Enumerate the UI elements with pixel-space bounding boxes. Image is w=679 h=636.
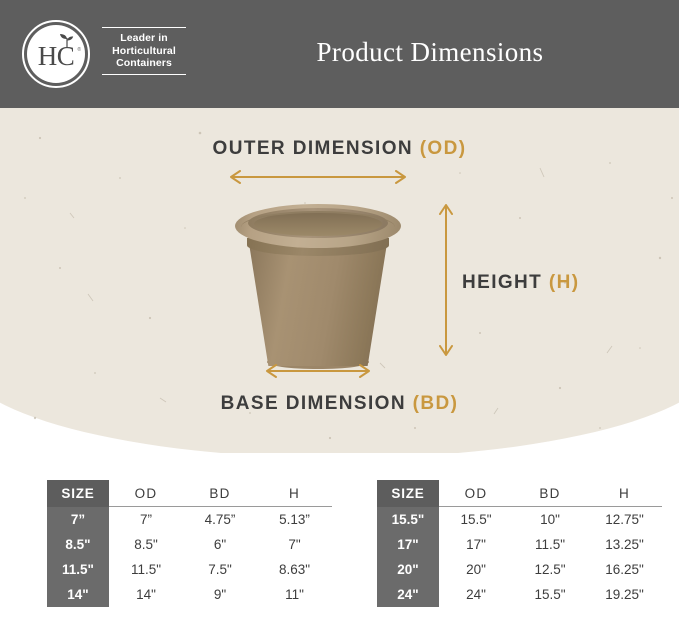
registered-trademark-mark: ® — [77, 47, 81, 53]
cell-size: 7” — [47, 507, 109, 533]
cell-bd: 15.5" — [513, 582, 587, 607]
cell-h: 7" — [257, 532, 332, 557]
cell-size: 20" — [377, 557, 439, 582]
cell-size: 24" — [377, 582, 439, 607]
column-header-bd: BD — [183, 480, 257, 507]
planter-pot-illustration — [229, 200, 407, 372]
hc-circle-logo: HC ® — [22, 20, 90, 88]
outer-dimension-code: (OD) — [420, 138, 467, 159]
table-row: 11.5" 11.5" 7.5" 8.63" — [47, 557, 332, 582]
table-row: 20" 20" 12.5" 16.25" — [377, 557, 662, 582]
cell-h: 12.75" — [587, 507, 662, 533]
diagram-panel: OUTER DIMENSION (OD) HEIGHT (H) BASE DIM… — [0, 108, 679, 453]
cell-bd: 10" — [513, 507, 587, 533]
cell-bd: 9" — [183, 582, 257, 607]
base-dimension-code: (BD) — [413, 393, 459, 414]
table-header-row: SIZE OD BD H — [377, 480, 662, 507]
cell-od: 7” — [109, 507, 183, 533]
logo-monogram: HC — [22, 20, 90, 88]
cell-bd: 6" — [183, 532, 257, 557]
table-row: 15.5" 15.5" 10" 12.75" — [377, 507, 662, 533]
outer-dimension-text: OUTER DIMENSION — [213, 138, 420, 159]
size-table-left: SIZE OD BD H 7” 7” 4.75” 5.13” 8.5" 8.5"… — [47, 480, 332, 607]
page-title: Product Dimensions — [200, 37, 660, 68]
tagline-line-2: Horticultural — [102, 45, 186, 57]
column-header-bd: BD — [513, 480, 587, 507]
column-header-od: OD — [439, 480, 513, 507]
cell-size: 8.5" — [47, 532, 109, 557]
leaf-sprout-icon — [58, 33, 76, 49]
cell-bd: 12.5" — [513, 557, 587, 582]
cell-od: 15.5" — [439, 507, 513, 533]
base-dimension-text: BASE DIMENSION — [221, 393, 413, 414]
tagline-line-1: Leader in — [102, 32, 186, 44]
cell-size: 11.5" — [47, 557, 109, 582]
column-header-size: SIZE — [47, 480, 109, 507]
cell-size: 17" — [377, 532, 439, 557]
tagline-rule-bottom — [102, 74, 186, 75]
cell-od: 17" — [439, 532, 513, 557]
cell-od: 11.5" — [109, 557, 183, 582]
cell-bd: 7.5" — [183, 557, 257, 582]
cell-h: 5.13” — [257, 507, 332, 533]
column-header-h: H — [587, 480, 662, 507]
table-row: 8.5" 8.5" 6" 7" — [47, 532, 332, 557]
height-label: HEIGHT (H) — [462, 272, 579, 294]
logo-tagline: Leader in Horticultural Containers — [102, 27, 186, 75]
pot-rim-groove — [241, 211, 395, 243]
height-arrow — [439, 200, 453, 360]
size-table-right: SIZE OD BD H 15.5" 15.5" 10" 12.75" 17" … — [377, 480, 662, 607]
height-text: HEIGHT — [462, 272, 549, 293]
table-row: 7” 7” 4.75” 5.13” — [47, 507, 332, 533]
cell-h: 19.25" — [587, 582, 662, 607]
cell-h: 8.63" — [257, 557, 332, 582]
cell-od: 8.5" — [109, 532, 183, 557]
cell-od: 20" — [439, 557, 513, 582]
cell-h: 11" — [257, 582, 332, 607]
outer-dimension-label: OUTER DIMENSION (OD) — [0, 138, 679, 160]
table-row: 24" 24" 15.5" 19.25" — [377, 582, 662, 607]
cell-h: 16.25" — [587, 557, 662, 582]
cell-od: 24" — [439, 582, 513, 607]
column-header-size: SIZE — [377, 480, 439, 507]
cell-h: 13.25" — [587, 532, 662, 557]
base-dimension-label: BASE DIMENSION (BD) — [0, 393, 679, 415]
cell-od: 14" — [109, 582, 183, 607]
outer-dimension-arrow — [226, 170, 410, 184]
cell-bd: 4.75” — [183, 507, 257, 533]
column-header-h: H — [257, 480, 332, 507]
height-code: (H) — [549, 272, 580, 293]
cell-bd: 11.5" — [513, 532, 587, 557]
header-bar: HC ® Leader in Horticultural Containers … — [0, 0, 679, 108]
table-row: 17" 17" 11.5" 13.25" — [377, 532, 662, 557]
base-dimension-arrow — [262, 364, 374, 378]
tagline-line-3: Containers — [102, 57, 186, 69]
table-row: 14" 14" 9" 11" — [47, 582, 332, 607]
cell-size: 14" — [47, 582, 109, 607]
column-header-od: OD — [109, 480, 183, 507]
table-header-row: SIZE OD BD H — [47, 480, 332, 507]
cell-size: 15.5" — [377, 507, 439, 533]
